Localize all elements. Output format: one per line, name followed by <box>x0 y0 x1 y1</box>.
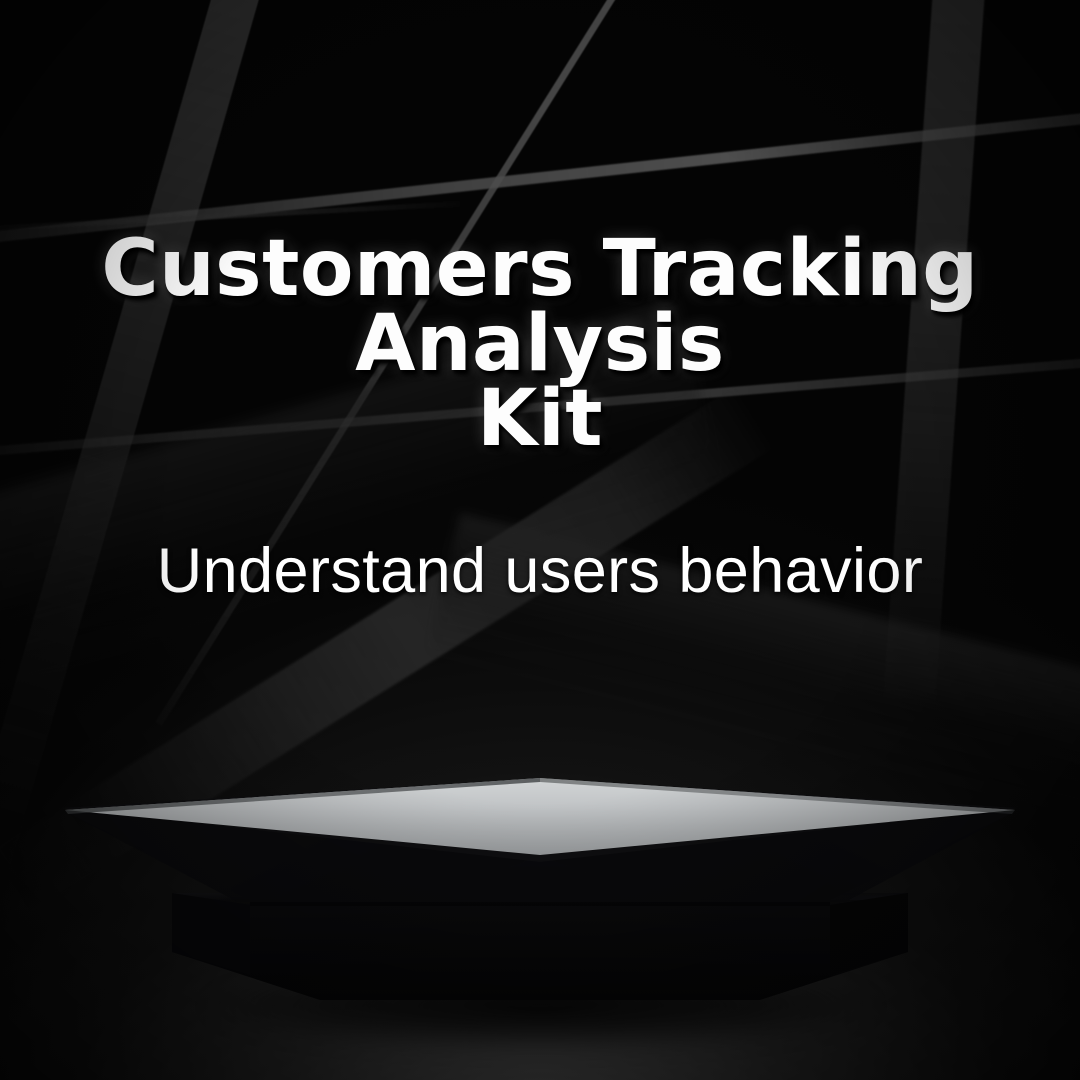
hero-title-block: Customers Tracking AnalysisKit <box>0 232 1080 457</box>
promo-scene: Customers Tracking AnalysisKit Understan… <box>0 0 1080 1080</box>
page-title: Customers Tracking AnalysisKit <box>0 232 1080 457</box>
page-subtitle: Understand users behavior <box>0 538 1080 604</box>
page-title-line-2: Kit <box>477 374 603 464</box>
page-title-line-1: Customers Tracking Analysis <box>101 224 978 389</box>
hero-subtitle-block: Understand users behavior <box>0 538 1080 604</box>
